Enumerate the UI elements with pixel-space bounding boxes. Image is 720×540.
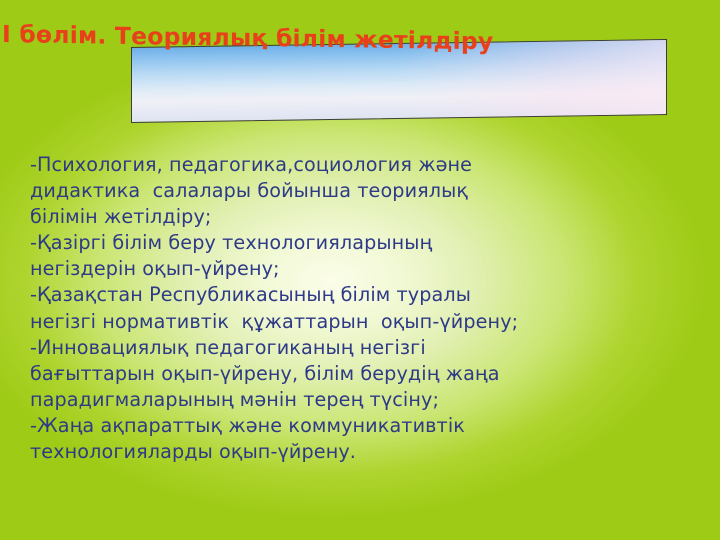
body-text-line: -Инновациялық педагогиканың негізгі <box>30 335 690 361</box>
body-text-line: -Қазақстан Республикасының білім туралы <box>30 282 690 308</box>
body-text-line: парадигмаларының мәнін терең түсіну; <box>30 387 690 413</box>
page-title: I бөлім. Теориялық білім жетілдіру <box>0 0 536 80</box>
body-text-line: бағыттарын оқып-үйрену, білім берудің жа… <box>30 361 690 387</box>
body-text-line: -Қазіргі білім беру технологияларының <box>30 230 690 256</box>
body-text-line: дидактика салалары бойынша теориялық <box>30 178 690 204</box>
body-text-block: -Психология, педагогика,социология жәнед… <box>30 152 690 465</box>
body-text-line: -Психология, педагогика,социология және <box>30 152 690 178</box>
body-text-line: негізгі нормативтік құжаттарын оқып-үйре… <box>30 309 690 335</box>
body-text-line: технологияларды оқып-үйрену. <box>30 439 690 465</box>
body-text-line: негіздерін оқып-үйрену; <box>30 256 690 282</box>
slide-canvas: I бөлім. Теориялық білім жетілдіру -Псих… <box>0 0 720 540</box>
body-text-line: -Жаңа ақпараттық және коммуникативтік <box>30 413 690 439</box>
body-text-line: білімін жетілдіру; <box>30 204 690 230</box>
